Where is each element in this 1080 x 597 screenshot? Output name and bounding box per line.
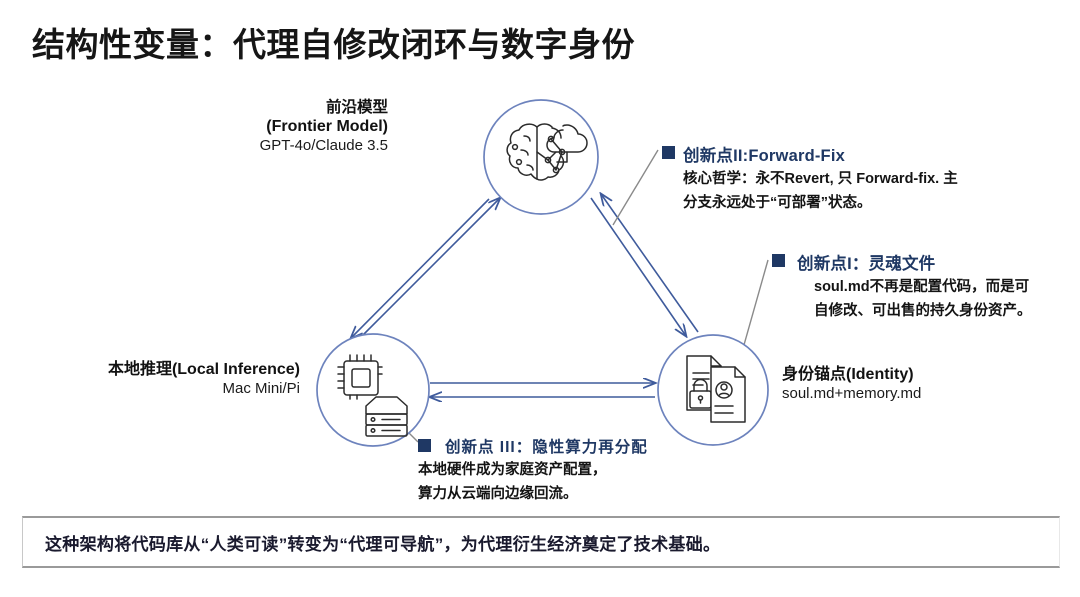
annotation-soul-file-line1: soul.md不再是配置代码，而是可 <box>814 277 1032 298</box>
annotation-forward-fix-line2: 分支永远处于“可部署”状态。 <box>683 193 958 214</box>
annotation-compute-realloc: 创新点 III：隐性算力再分配 本地硬件成为家庭资产配置， 算力从云端向边缘回流… <box>418 435 648 505</box>
annotation-compute-realloc-line1: 本地硬件成为家庭资产配置， <box>418 460 648 481</box>
annotation-compute-realloc-title: 创新点 III：隐性算力再分配 <box>445 435 648 457</box>
square-bullet-icon <box>418 439 431 452</box>
edge-frontier-identity <box>591 194 698 336</box>
node-label-local-inference: 本地推理(Local Inference) Mac Mini/Pi <box>10 360 300 399</box>
annotation-soul-file: 创新点I：灵魂文件 soul.md不再是配置代码，而是可 自修改、可出售的持久身… <box>772 250 1032 322</box>
node-frontier-sub: GPT-4o/Claude 3.5 <box>148 137 388 156</box>
node-local-cn: 本地推理(Local Inference) <box>10 360 300 380</box>
node-frontier-cn: 前沿模型 <box>148 98 388 117</box>
node-identity-anchor[interactable] <box>658 335 768 445</box>
node-label-identity-anchor: 身份锚点(Identity) soul.md+memory.md <box>782 365 1062 404</box>
edge-frontier-local <box>351 198 500 338</box>
leader-line-forward-fix <box>613 150 658 225</box>
annotation-soul-file-head: 创新点I：灵魂文件 <box>772 250 1032 274</box>
annotation-forward-fix-title: 创新点II:Forward-Fix <box>683 142 845 166</box>
node-frontier-model[interactable] <box>484 100 598 214</box>
node-local-sub: Mac Mini/Pi <box>10 380 300 399</box>
square-bullet-icon <box>772 254 785 267</box>
annotation-compute-realloc-head: 创新点 III：隐性算力再分配 <box>418 435 648 457</box>
annotation-compute-realloc-line2: 算力从云端向边缘回流。 <box>418 484 648 505</box>
node-frontier-en: (Frontier Model) <box>148 117 388 137</box>
summary-caption-box: 这种架构将代码库从“人类可读”转变为“代理可导航”，为代理衍生经济奠定了技术基础… <box>22 516 1060 568</box>
annotation-soul-file-title: 创新点I：灵魂文件 <box>797 250 935 274</box>
node-local-inference[interactable] <box>317 334 429 446</box>
node-label-frontier-model: 前沿模型 (Frontier Model) GPT-4o/Claude 3.5 <box>148 98 388 156</box>
edge-local-identity <box>430 383 655 397</box>
annotation-soul-file-line2: 自修改、可出售的持久身份资产。 <box>814 301 1032 322</box>
annotation-forward-fix-line1: 核心哲学：永不Revert, 只 Forward-fix. 主 <box>683 169 958 190</box>
node-identity-cn: 身份锚点(Identity) <box>782 365 1062 385</box>
summary-caption-text: 这种架构将代码库从“人类可读”转变为“代理可导航”，为代理衍生经济奠定了技术基础… <box>45 530 720 555</box>
architecture-diagram: 前沿模型 (Frontier Model) GPT-4o/Claude 3.5 … <box>0 70 1080 510</box>
annotation-forward-fix-head: 创新点II:Forward-Fix <box>662 142 958 166</box>
square-bullet-icon <box>662 146 675 159</box>
node-identity-sub: soul.md+memory.md <box>782 385 1062 404</box>
annotation-forward-fix: 创新点II:Forward-Fix 核心哲学：永不Revert, 只 Forwa… <box>662 142 958 214</box>
page-title: 结构性变量：代理自修改闭环与数字身份 <box>32 18 635 66</box>
